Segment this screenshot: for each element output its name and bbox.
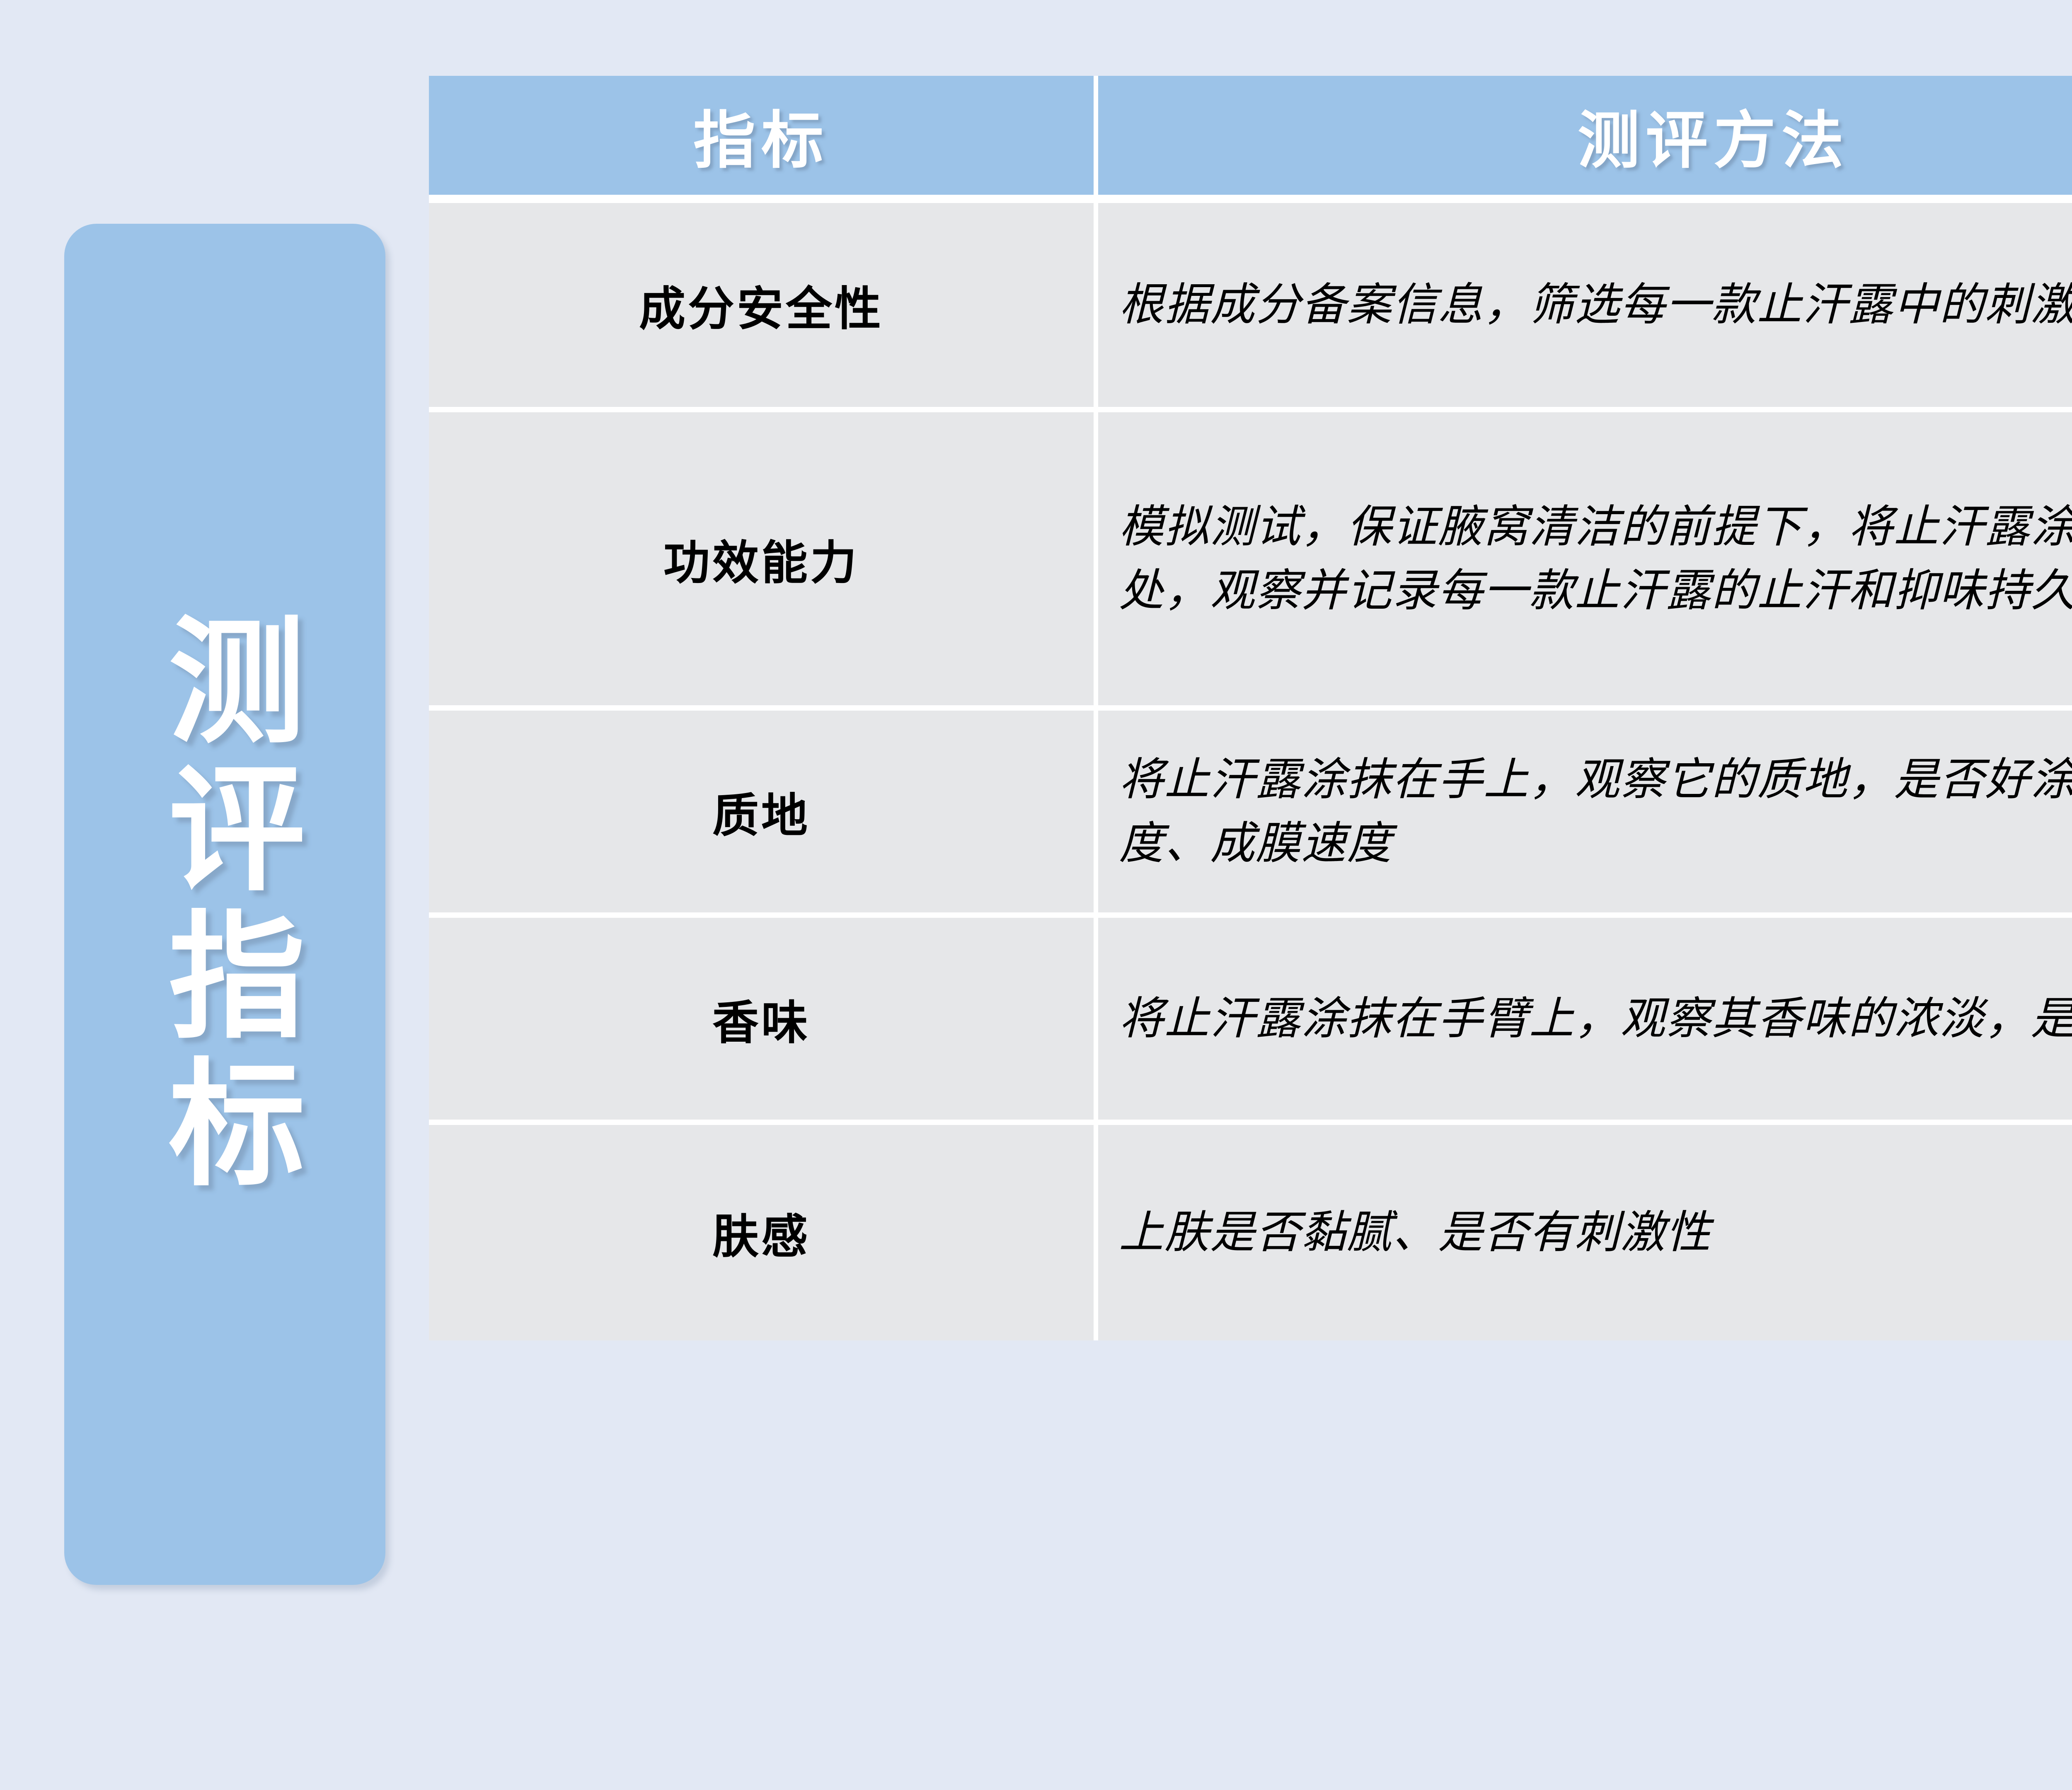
- method-description-cell: 上肤是否黏腻、是否有刺激性: [1098, 1125, 2072, 1340]
- column-header-method: 测评方法: [1098, 76, 2072, 203]
- table-row: 肤感 上肤是否黏腻、是否有刺激性: [429, 1125, 2072, 1340]
- method-description-cell: 将止汗露涂抹在手上，观察它的质地，是否好涂开，吸收速度、成膜速度: [1098, 711, 2072, 918]
- table-row: 质地 将止汗露涂抹在手上，观察它的质地，是否好涂开，吸收速度、成膜速度: [429, 711, 2072, 918]
- column-header-metric: 指标: [429, 76, 1098, 203]
- method-description-cell: 将止汗露涂抹在手臂上，观察其香味的浓淡，是否刺鼻。: [1098, 918, 2072, 1125]
- metric-name-cell: 质地: [429, 711, 1098, 918]
- metric-name-cell: 功效能力: [429, 412, 1098, 711]
- metric-name-cell: 成分安全性: [429, 203, 1098, 412]
- table-row: 香味 将止汗露涂抹在手臂上，观察其香味的浓淡，是否刺鼻。: [429, 918, 2072, 1125]
- method-description-cell: 模拟测试，保证腋窝清洁的前提下，将止汗露涂抹在腋窝处，观察并记录每一款止汗露的止…: [1098, 412, 2072, 711]
- evaluation-criteria-table: 指标 测评方法 成分安全性 根据成分备案信息，筛选每一款止汗露中的刺激成分。 功…: [429, 76, 2072, 1340]
- metric-name-cell: 肤感: [429, 1125, 1098, 1340]
- table-header-row: 指标 测评方法: [429, 76, 2072, 203]
- table-row: 功效能力 模拟测试，保证腋窝清洁的前提下，将止汗露涂抹在腋窝处，观察并记录每一款…: [429, 412, 2072, 711]
- side-banner: 测评指标: [64, 224, 385, 1585]
- table-row: 成分安全性 根据成分备案信息，筛选每一款止汗露中的刺激成分。: [429, 203, 2072, 412]
- metric-name-cell: 香味: [429, 918, 1098, 1125]
- method-description-cell: 根据成分备案信息，筛选每一款止汗露中的刺激成分。: [1098, 203, 2072, 412]
- side-banner-label: 测评指标: [137, 610, 312, 1200]
